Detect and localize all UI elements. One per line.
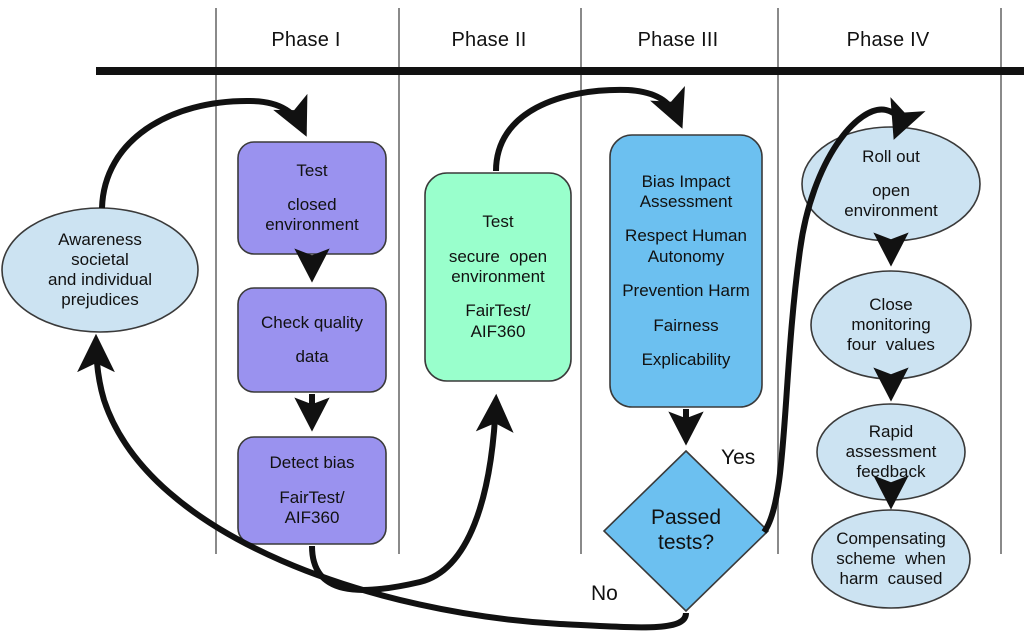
node-test-closed — [238, 142, 386, 254]
phase-header-2: Phase II — [419, 29, 559, 52]
node-test-secure-open — [425, 173, 571, 381]
flowchart-svg — [0, 0, 1024, 642]
edge-label-yes: Yes — [721, 446, 755, 470]
phase-header-1: Phase I — [236, 29, 376, 52]
node-values — [610, 135, 762, 407]
node-passed-tests — [604, 451, 768, 611]
edge-label-no: No — [591, 582, 618, 606]
node-detect-bias — [238, 437, 386, 544]
phase-header-3: Phase III — [608, 29, 748, 52]
phase-header-4: Phase IV — [818, 29, 958, 52]
flowchart-canvas: Phase I Phase II Phase III Phase IV Awar… — [0, 0, 1024, 642]
node-close-monitoring — [811, 271, 971, 379]
node-compensating — [812, 510, 970, 608]
node-check-quality — [238, 288, 386, 392]
node-roll-out — [802, 127, 980, 241]
node-rapid-assessment — [817, 404, 965, 500]
node-awareness — [2, 208, 198, 332]
